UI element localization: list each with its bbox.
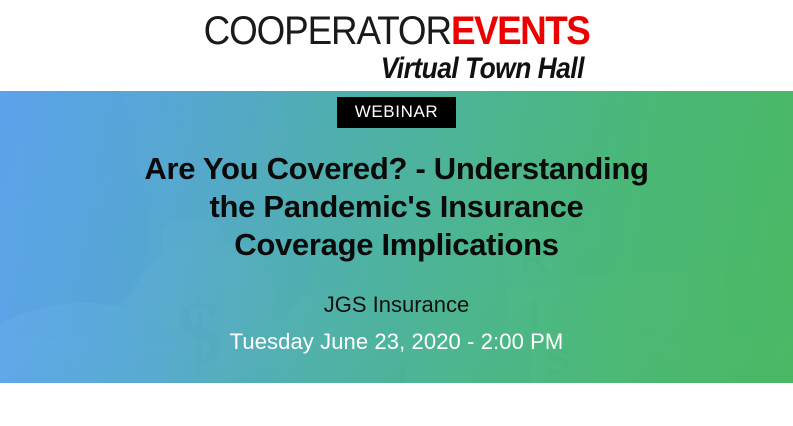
title-line-2: the Pandemic's Insurance (209, 189, 583, 224)
logo-primary-line: COOPERATOREVENTS (32, 10, 762, 52)
event-datetime: Tuesday June 23, 2020 - 2:00 PM (0, 329, 793, 355)
logo-events-text: EVENTS (451, 9, 589, 53)
site-header: COOPERATOREVENTS Virtual Town Hall (0, 0, 793, 91)
brand-logo[interactable]: COOPERATOREVENTS Virtual Town Hall (0, 10, 793, 86)
title-line-1: Are You Covered? - Understanding (144, 151, 648, 186)
status-badge: WEBINAR (337, 97, 457, 128)
banner-content: WEBINAR Are You Covered? - Understanding… (0, 91, 793, 383)
logo-cooperator-text: COOPERATOR (204, 9, 451, 53)
title-line-3: Coverage Implications (234, 227, 558, 262)
page-title: Are You Covered? - Understanding the Pan… (0, 150, 793, 264)
logo-subtitle-text: Virtual Town Hall (48, 52, 746, 86)
footer-whitespace (0, 383, 793, 426)
webinar-banner: $ R I S K WEBINAR Are You Covered? - Und… (0, 91, 793, 383)
presenter-name: JGS Insurance (0, 292, 793, 318)
